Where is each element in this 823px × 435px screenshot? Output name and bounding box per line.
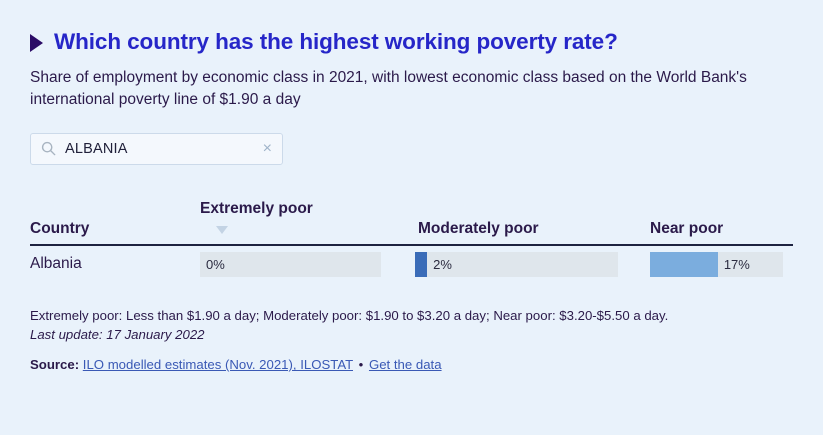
table-footnotes: Extremely poor: Less than $1.90 a day; M… — [30, 306, 793, 345]
bar-fill-moderately-poor — [415, 252, 427, 277]
cell-extremely-poor: 0% — [200, 252, 381, 277]
cell-moderately-poor: 2% — [415, 252, 618, 277]
poverty-rate-panel: Which country has the highest working po… — [0, 0, 823, 435]
table-row[interactable]: Albania 0% 2% 17% — [30, 246, 793, 284]
footnote-last-update: Last update: 17 January 2022 — [30, 325, 793, 344]
search-input-value[interactable]: ALBANIA — [65, 141, 261, 157]
source-link-ilostat[interactable]: ILO modelled estimates (Nov. 2021), ILOS… — [83, 357, 353, 372]
cell-country: Albania — [30, 255, 82, 273]
close-icon[interactable]: × — [261, 141, 274, 157]
source-line: Source: ILO modelled estimates (Nov. 202… — [30, 357, 793, 372]
poverty-table: Country Extremely poor Moderately poor N… — [30, 192, 793, 284]
column-header-extremely-poor[interactable]: Extremely poor — [200, 200, 313, 218]
sort-descending-icon[interactable] — [216, 226, 228, 234]
bar-fill-near-poor — [650, 252, 718, 277]
column-header-near-poor[interactable]: Near poor — [650, 220, 723, 238]
page-subtitle: Share of employment by economic class in… — [30, 67, 775, 111]
bar-value-moderately-poor: 2% — [433, 252, 452, 277]
page-title-text: Which country has the highest working po… — [54, 30, 618, 55]
table-header-row: Country Extremely poor Moderately poor N… — [30, 192, 793, 244]
footnote-definitions: Extremely poor: Less than $1.90 a day; M… — [30, 306, 793, 325]
get-the-data-link[interactable]: Get the data — [369, 357, 442, 372]
source-label: Source: — [30, 357, 79, 372]
cell-near-poor: 17% — [650, 252, 783, 277]
column-header-moderately-poor[interactable]: Moderately poor — [418, 220, 539, 238]
bar-track: 0% — [200, 252, 381, 277]
column-header-country[interactable]: Country — [30, 220, 89, 238]
bar-track: 2% — [415, 252, 618, 277]
bar-value-extremely-poor: 0% — [206, 252, 225, 277]
bar-value-near-poor: 17% — [724, 252, 750, 277]
search-input[interactable]: ALBANIA × — [30, 133, 283, 165]
page-title: Which country has the highest working po… — [30, 0, 793, 55]
bar-track: 17% — [650, 252, 783, 277]
search-icon — [41, 141, 56, 156]
source-separator: • — [357, 357, 366, 372]
triangle-right-icon — [30, 34, 43, 52]
